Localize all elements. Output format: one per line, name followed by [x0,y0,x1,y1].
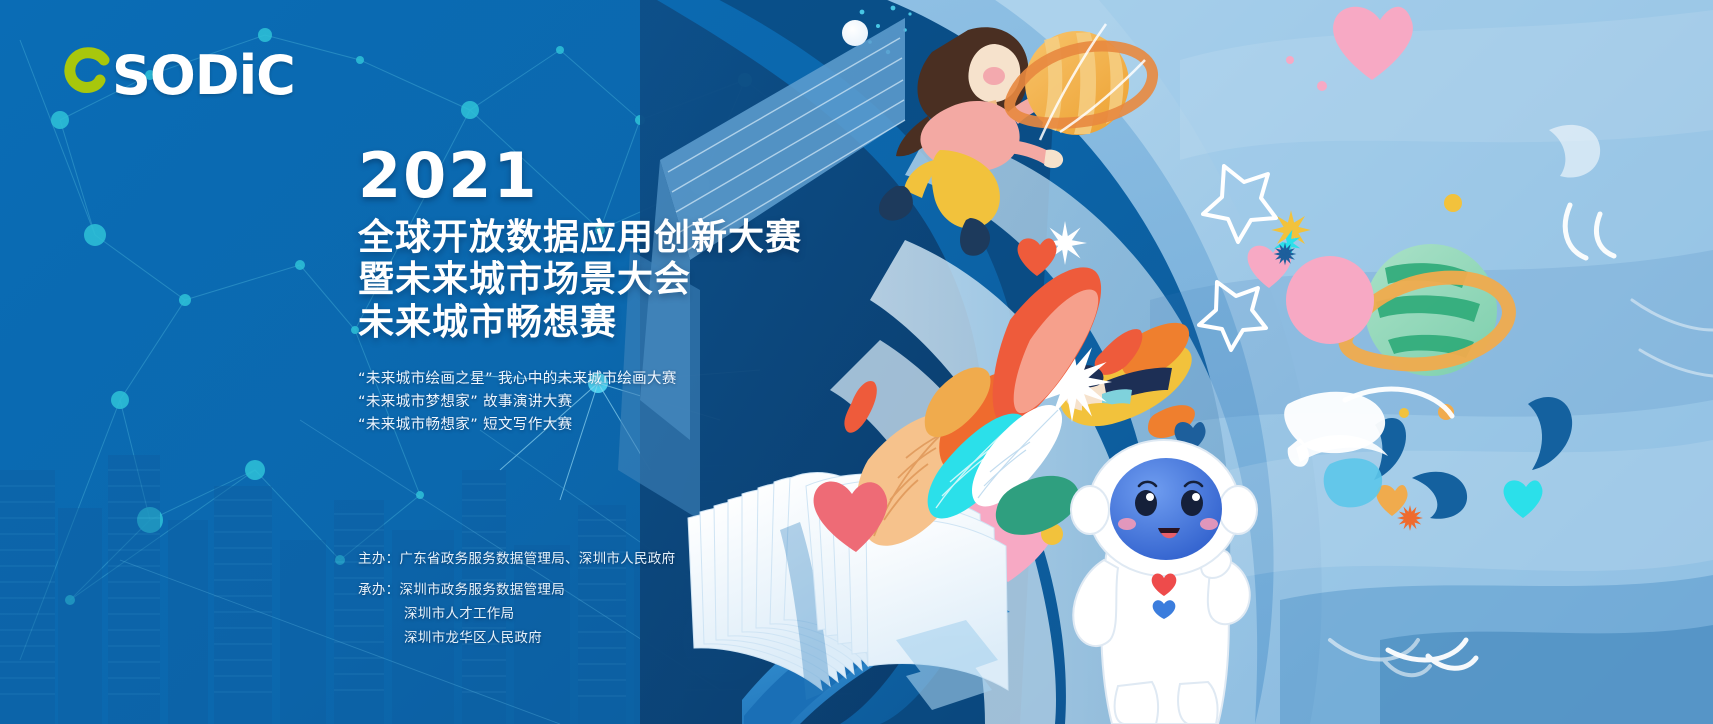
subtitle-line-2: “未来城市梦想家” 故事演讲大赛 [358,391,978,414]
organizer-extra-2: 深圳市龙华区人民政府 [358,631,918,646]
subtitle-line-3: “未来城市畅想家” 短文写作大赛 [358,414,978,437]
organizer-line: 承办：深圳市政务服务数据管理局 [358,583,918,598]
organizer-extra-1: 深圳市人才工作局 [358,607,918,622]
title-line-2: 暨未来城市场景大会 [358,259,978,301]
organizer-block: 主办：广东省政务服务数据管理局、深圳市人民政府 承办：深圳市政务服务数据管理局 … [358,552,918,661]
host-line: 主办：广东省政务服务数据管理局、深圳市人民政府 [358,552,918,567]
event-title: 全球开放数据应用创新大赛 暨未来城市场景大会 未来城市畅想赛 [358,217,978,344]
event-year: 2021 [358,145,978,207]
brand-logo[interactable]: SODiC [62,45,295,107]
title-line-3: 未来城市畅想赛 [358,302,978,344]
title-line-1: 全球开放数据应用创新大赛 [358,217,978,259]
event-subtitles: “未来城市绘画之星” 我心中的未来城市绘画大赛 “未来城市梦想家” 故事演讲大赛… [358,368,978,437]
title-block: 2021 全球开放数据应用创新大赛 暨未来城市场景大会 未来城市畅想赛 “未来城… [358,145,978,437]
sodic-mark-icon [62,47,118,105]
brand-logo-text: SODiC [112,49,295,103]
poster-canvas: SODiC 2021 全球开放数据应用创新大赛 暨未来城市场景大会 未来城市畅想… [0,0,1713,724]
subtitle-line-1: “未来城市绘画之星” 我心中的未来城市绘画大赛 [358,368,978,391]
moon [842,20,868,46]
